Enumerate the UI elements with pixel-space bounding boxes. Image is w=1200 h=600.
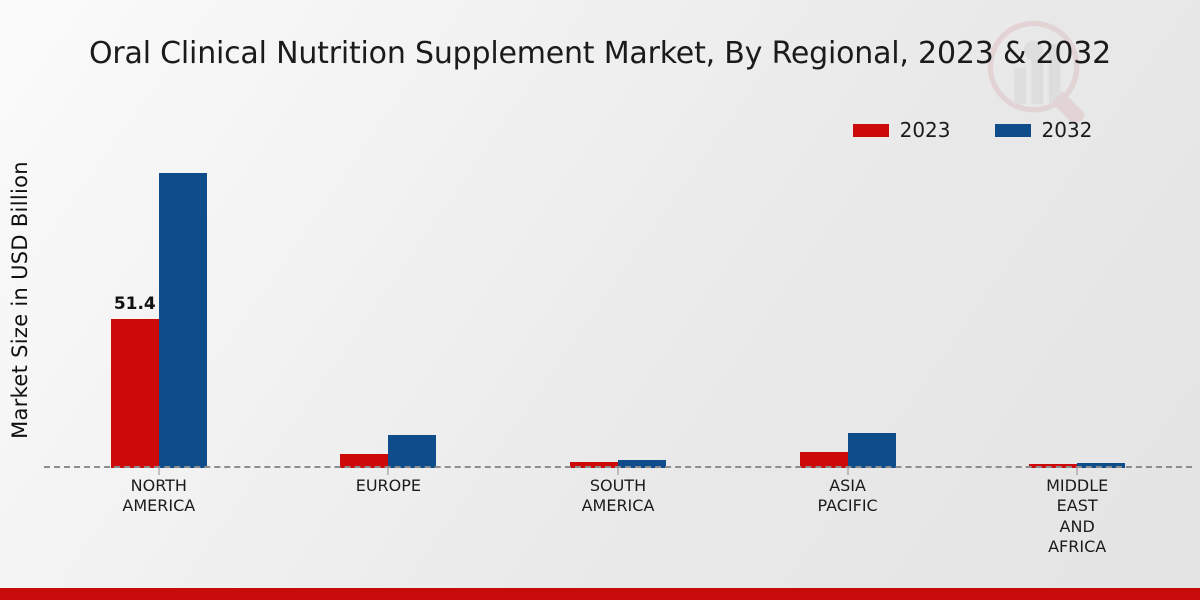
bar-2032[interactable] xyxy=(159,173,207,468)
legend-item-2023[interactable]: 2023 xyxy=(853,120,951,140)
bar-groups: 51.4 xyxy=(44,150,1192,468)
bar-slot-2023: 51.4 xyxy=(111,150,159,468)
y-axis-title: Market Size in USD Billion xyxy=(2,0,38,600)
x-axis-labels: NORTH AMERICAEUROPESOUTH AMERICAASIA PAC… xyxy=(44,476,1192,558)
bar-slot-2032 xyxy=(848,150,896,468)
chart-legend: 2023 2032 xyxy=(0,120,1200,140)
legend-label-2023: 2023 xyxy=(900,120,951,140)
chart-container: Oral Clinical Nutrition Supplement Marke… xyxy=(0,0,1200,600)
bar-pair xyxy=(1029,150,1125,468)
legend-item-2032[interactable]: 2032 xyxy=(995,120,1093,140)
bar-group: 51.4 xyxy=(44,150,274,468)
x-axis-label: NORTH AMERICA xyxy=(44,476,274,558)
legend-label-2032: 2032 xyxy=(1042,120,1093,140)
bar-2032[interactable] xyxy=(848,433,896,468)
x-axis-tick xyxy=(617,468,618,475)
bar-slot-2023 xyxy=(340,150,388,468)
bar-group xyxy=(733,150,963,468)
bar-slot-2023 xyxy=(1029,150,1077,468)
bar-slot-2032 xyxy=(1077,150,1125,468)
x-axis-label: SOUTH AMERICA xyxy=(503,476,733,558)
x-axis-tick xyxy=(1077,468,1078,475)
x-axis-label: EUROPE xyxy=(274,476,504,558)
x-axis-label: ASIA PACIFIC xyxy=(733,476,963,558)
bar-2032[interactable] xyxy=(388,435,436,468)
x-axis-tick xyxy=(388,468,389,475)
y-axis-title-text: Market Size in USD Billion xyxy=(8,161,32,439)
bar-group xyxy=(962,150,1192,468)
bar-slot-2032 xyxy=(388,150,436,468)
company-watermark-logo xyxy=(985,18,1093,126)
legend-swatch-icon-2023 xyxy=(853,124,889,137)
bar-group xyxy=(503,150,733,468)
bar-slot-2023 xyxy=(570,150,618,468)
x-axis-label: MIDDLE EAST AND AFRICA xyxy=(962,476,1192,558)
x-axis-tick xyxy=(158,468,159,475)
legend-swatch-icon-2032 xyxy=(995,124,1031,137)
bar-group xyxy=(274,150,504,468)
bar-2023[interactable] xyxy=(111,319,159,468)
bar-value-label: 51.4 xyxy=(114,294,156,314)
bar-pair: 51.4 xyxy=(111,150,207,468)
bar-pair xyxy=(800,150,896,468)
plot-area: 51.4 xyxy=(44,150,1192,468)
bar-slot-2032 xyxy=(159,150,207,468)
bar-slot-2032 xyxy=(618,150,666,468)
footer-accent-bar xyxy=(0,588,1200,600)
baseline-axis xyxy=(44,466,1192,468)
bar-pair xyxy=(340,150,436,468)
bar-pair xyxy=(570,150,666,468)
chart-title: Oral Clinical Nutrition Supplement Marke… xyxy=(0,36,1200,71)
bar-slot-2023 xyxy=(800,150,848,468)
x-axis-tick xyxy=(847,468,848,475)
